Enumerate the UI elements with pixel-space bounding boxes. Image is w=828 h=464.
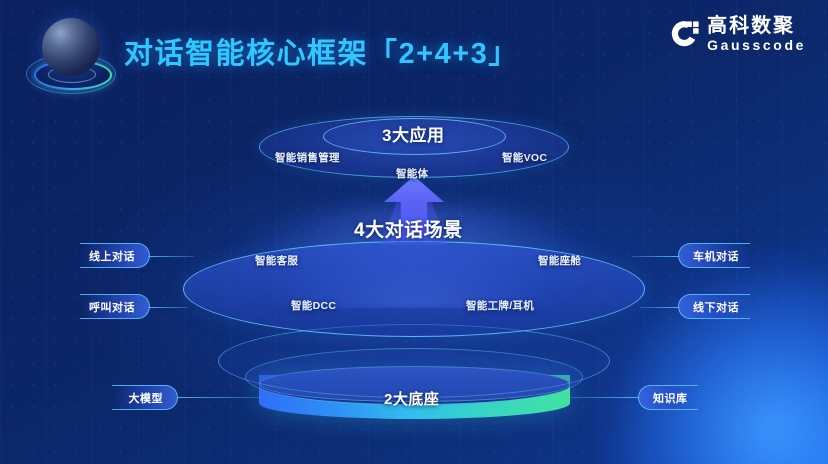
framework-diagram: 3大应用 4大对话场景 2大底座 智能销售管理 智能体 智能VOC 智能客服 智… [0,0,828,464]
connector-left-llm [176,397,260,398]
node-scenario-cockpit: 智能座舱 [538,253,581,268]
node-application-sales: 智能销售管理 [275,150,340,165]
side-label-call-chat[interactable]: 呼叫对话 [80,294,150,319]
node-scenario-badge-headset: 智能工牌/耳机 [466,298,534,313]
side-label-offline-chat[interactable]: 线下对话 [678,294,750,319]
tier-title-scenarios: 4大对话场景 [354,215,463,242]
connector-left-call [148,307,188,308]
tier-title-foundation: 2大底座 [384,388,439,409]
node-application-voc: 智能VOC [502,150,547,165]
connector-left-online [148,256,194,257]
node-scenario-dcc: 智能DCC [291,298,336,313]
connector-right-kb [570,397,640,398]
side-label-car-chat[interactable]: 车机对话 [678,243,750,268]
side-label-online-chat[interactable]: 线上对话 [80,243,150,268]
node-application-agent: 智能体 [396,166,428,181]
connector-right-offline [640,307,680,308]
connector-right-car [632,256,680,257]
node-scenario-customer-service: 智能客服 [255,253,298,268]
side-label-knowledge-base[interactable]: 知识库 [638,385,698,410]
slide-canvas: 对话智能核心框架「2+4+3」 高科数聚 Gausscode [0,0,828,464]
side-label-large-model[interactable]: 大模型 [112,385,178,410]
tier-title-applications: 3大应用 [382,121,444,146]
